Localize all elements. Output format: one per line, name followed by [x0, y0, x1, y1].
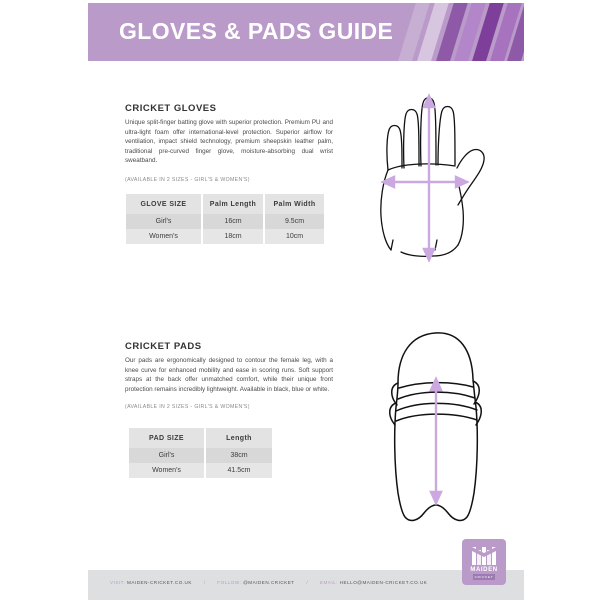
header-band: GLOVES & PADS GUIDE [88, 3, 524, 61]
pads-availability-text: (AVAILABLE IN 2 SIZES - GIRL'S & WOMEN'S… [125, 404, 333, 410]
gloves-heading: CRICKET GLOVES [125, 103, 333, 114]
page-canvas: GLOVES & PADS GUIDE CRICKET GLOVES Uniqu… [0, 0, 600, 600]
footer-follow-value[interactable]: @MAIDEN.CRICKET [243, 580, 294, 585]
footer-visit-value[interactable]: MAIDEN-CRICKET.CO.UK [127, 580, 192, 585]
glove-col-header-palm-length: Palm Length [202, 194, 264, 214]
footer-band [88, 570, 524, 600]
brand-logo: MAIDEN CRICKET [462, 539, 506, 585]
hand-outline-illustration [357, 90, 527, 280]
pad-cell-length: 41.5cm [205, 463, 272, 478]
table-row: Women's 41.5cm [129, 463, 272, 478]
gloves-availability-note: (AVAILABLE IN 2 SIZES - GIRL'S & WOMEN'S… [125, 177, 333, 183]
brand-name-text: MAIDEN [462, 567, 506, 573]
maiden-monogram-icon [471, 546, 497, 566]
brand-sub-text: CRICKET [473, 574, 495, 580]
gloves-section: CRICKET GLOVES Unique split-finger batti… [125, 103, 333, 166]
footer-visit-label: VISIT: [110, 580, 125, 585]
pads-availability-note: (AVAILABLE IN 2 SIZES - GIRL'S & WOMEN'S… [125, 404, 333, 410]
footer-follow-label: FOLLOW: [217, 580, 241, 585]
footer-email-label: EMAIL: [320, 580, 338, 585]
glove-cell-palm-width: 9.5cm [264, 214, 324, 229]
pad-size-table: PAD SIZE Length Girl's 38cm Women's 41.5… [129, 428, 272, 478]
glove-col-header-size: GLOVE SIZE [126, 194, 202, 214]
pad-cell-size: Women's [129, 463, 205, 478]
footer-separator-2: / [296, 580, 318, 585]
pads-heading: CRICKET PADS [125, 341, 333, 352]
pad-col-header-length: Length [205, 428, 272, 448]
cricket-pad-illustration [360, 325, 520, 535]
pads-description: Our pads are ergonomically designed to c… [125, 356, 333, 394]
footer-contact-line: VISIT: MAIDEN-CRICKET.CO.UK / FOLLOW: @M… [110, 580, 427, 585]
pad-col-header-size: PAD SIZE [129, 428, 205, 448]
table-header-row: PAD SIZE Length [129, 428, 272, 448]
glove-cell-palm-width: 10cm [264, 229, 324, 244]
table-row: Girl's 16cm 9.5cm [126, 214, 324, 229]
glove-cell-palm-length: 18cm [202, 229, 264, 244]
glove-size-table: GLOVE SIZE Palm Length Palm Width Girl's… [126, 194, 324, 244]
glove-cell-palm-length: 16cm [202, 214, 264, 229]
footer-email-value[interactable]: HELLO@MAIDEN-CRICKET.CO.UK [340, 580, 428, 585]
page-title: GLOVES & PADS GUIDE [119, 18, 393, 45]
pads-section: CRICKET PADS Our pads are ergonomically … [125, 341, 333, 394]
pad-cell-length: 38cm [205, 448, 272, 463]
pad-cell-size: Girl's [129, 448, 205, 463]
footer-separator-1: / [194, 580, 216, 585]
gloves-description: Unique split-finger batting glove with s… [125, 118, 333, 166]
table-row: Women's 18cm 10cm [126, 229, 324, 244]
glove-cell-size: Girl's [126, 214, 202, 229]
glove-col-header-palm-width: Palm Width [264, 194, 324, 214]
table-row: Girl's 38cm [129, 448, 272, 463]
table-header-row: GLOVE SIZE Palm Length Palm Width [126, 194, 324, 214]
glove-cell-size: Women's [126, 229, 202, 244]
gloves-availability-text: (AVAILABLE IN 2 SIZES - GIRL'S & WOMEN'S… [125, 177, 333, 183]
